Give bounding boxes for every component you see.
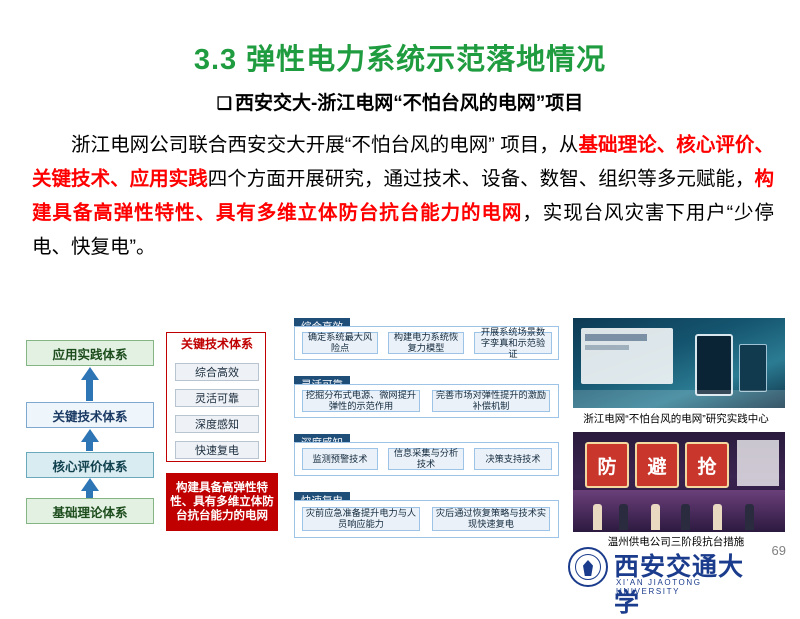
- diagram-group-1-cell-0: 挖掘分布式电源、微网提升弹性的示范作用: [302, 390, 420, 412]
- arrow-stem-1: [86, 379, 93, 401]
- diagram-group-1-cell-1: 完善市场对弹性提升的激励补偿机制: [432, 390, 550, 412]
- diagram-left-box-1: 关键技术体系: [26, 402, 154, 428]
- photo-person-0: [593, 504, 602, 530]
- photo-wall-subline: [585, 345, 629, 350]
- arrow-up-2: [81, 429, 99, 442]
- research-center-photo-caption: 浙江电网“不怕台风的电网”研究实践中心: [566, 411, 786, 426]
- diagram-group-1: 灵活可靠 挖掘分布式电源、微网提升弹性的示范作用 完善市场对弹性提升的激励补偿机…: [294, 376, 559, 418]
- diagram-left-box-3: 基础理论体系: [26, 498, 154, 524]
- diagram-group-0: 综合高效 确定系统最大风险点 构建电力系统恢复力模型 开展系统场景数字孪真和示范…: [294, 318, 559, 360]
- diagram-left-box-0: 应用实践体系: [26, 340, 154, 366]
- diagram-group-0-cell-2: 开展系统场景数字孪真和示范验证: [474, 332, 552, 354]
- arrow-up-3: [81, 478, 99, 491]
- photo-person-3: [681, 504, 690, 530]
- diagram-group-0-cell-0: 确定系统最大风险点: [302, 332, 378, 354]
- key-tech-panel: 关键技术体系 综合高效 灵活可靠 深度感知 快速复电: [166, 332, 266, 462]
- diagram-group-2-cell-1: 信息采集与分析技术: [388, 448, 464, 470]
- diagram-group-2-cell-0: 监测预警技术: [302, 448, 378, 470]
- key-tech-item-2: 深度感知: [175, 415, 259, 433]
- university-seal-icon: [568, 547, 608, 587]
- wenzhou-conference-photo: 防 避 抢: [573, 432, 785, 532]
- framework-diagram: 应用实践体系 关键技术体系 核心评价体系 基础理论体系 关键技术体系 综合高效 …: [18, 318, 563, 553]
- key-tech-item-0: 综合高效: [175, 363, 259, 381]
- body-paragraph: 浙江电网公司联合西安交大开展“不怕台风的电网” 项目，从基础理论、核心评价、关键…: [32, 128, 774, 264]
- diagram-group-0-cell-1: 构建电力系统恢复力模型: [388, 332, 464, 354]
- bullet-square-icon: ❑: [217, 94, 232, 113]
- diagram-left-box-3-label: 基础理论体系: [52, 502, 127, 521]
- diagram-goal-box: 构建具备高弹性特性、具有多维立体防台抗台能力的电网: [166, 473, 278, 531]
- photo-banner-char-1: 避: [635, 442, 679, 488]
- arrow-stem-3: [86, 490, 93, 498]
- slide-root: 3.3 弹性电力系统示范落地情况 ❑西安交大-浙江电网“不怕台风的电网”项目 浙…: [0, 0, 800, 600]
- body-seg-3: 四个方面开展研究，通过技术、设备、数智、组织等多元赋能，: [208, 168, 755, 190]
- photo-person-5: [745, 504, 754, 530]
- key-tech-item-1: 灵活可靠: [175, 389, 259, 407]
- diagram-group-3-cell-1: 灾后通过恢复策略与技术实现快速复电: [432, 507, 550, 531]
- photo-kiosk-screen: [695, 334, 733, 396]
- photo-banner-char-0: 防: [585, 442, 629, 488]
- key-tech-item-3: 快速复电: [175, 441, 259, 459]
- diagram-group-3-cell-0: 灾前应急准备提升电力与人员响应能力: [302, 507, 420, 531]
- photo-kiosk-screen-2: [739, 344, 767, 392]
- photo-person-1: [619, 504, 628, 530]
- page-title: 3.3 弹性电力系统示范落地情况: [0, 36, 800, 78]
- diagram-left-box-2-label: 核心评价体系: [52, 456, 127, 475]
- photo-person-4: [713, 504, 722, 530]
- photo-floor: [573, 390, 785, 408]
- diagram-group-3: 快速复电 灾前应急准备提升电力与人员响应能力 灾后通过恢复策略与技术实现快速复电: [294, 492, 559, 538]
- diagram-left-box-1-label: 关键技术体系: [52, 406, 127, 425]
- key-tech-panel-title: 关键技术体系: [167, 333, 267, 353]
- diagram-left-box-0-label: 应用实践体系: [52, 344, 127, 363]
- section-subtitle: ❑西安交大-浙江电网“不怕台风的电网”项目: [0, 88, 800, 115]
- arrow-stem-2: [86, 441, 93, 451]
- photo-banner-char-2: 抢: [685, 442, 729, 488]
- research-center-photo: [573, 318, 785, 408]
- photo-side-banner: [737, 440, 779, 486]
- diagram-group-2: 深度感知 监测预警技术 信息采集与分析技术 决策支持技术: [294, 434, 559, 476]
- diagram-left-box-2: 核心评价体系: [26, 452, 154, 478]
- body-seg-1: 浙江电网公司联合西安交大开展“不怕台风的电网” 项目，从: [71, 134, 578, 156]
- photo-wall-headline: [585, 334, 647, 341]
- page-number: 69: [772, 543, 786, 558]
- arrow-up-1: [81, 367, 99, 380]
- section-subtitle-text: 西安交大-浙江电网“不怕台风的电网”项目: [235, 93, 583, 114]
- diagram-group-2-cell-2: 决策支持技术: [474, 448, 552, 470]
- photo-person-2: [651, 504, 660, 530]
- university-logo: 西安交通大学 XI'AN JIAOTONG UNIVERSITY: [568, 545, 768, 593]
- university-logo-en: XI'AN JIAOTONG UNIVERSITY: [616, 578, 768, 596]
